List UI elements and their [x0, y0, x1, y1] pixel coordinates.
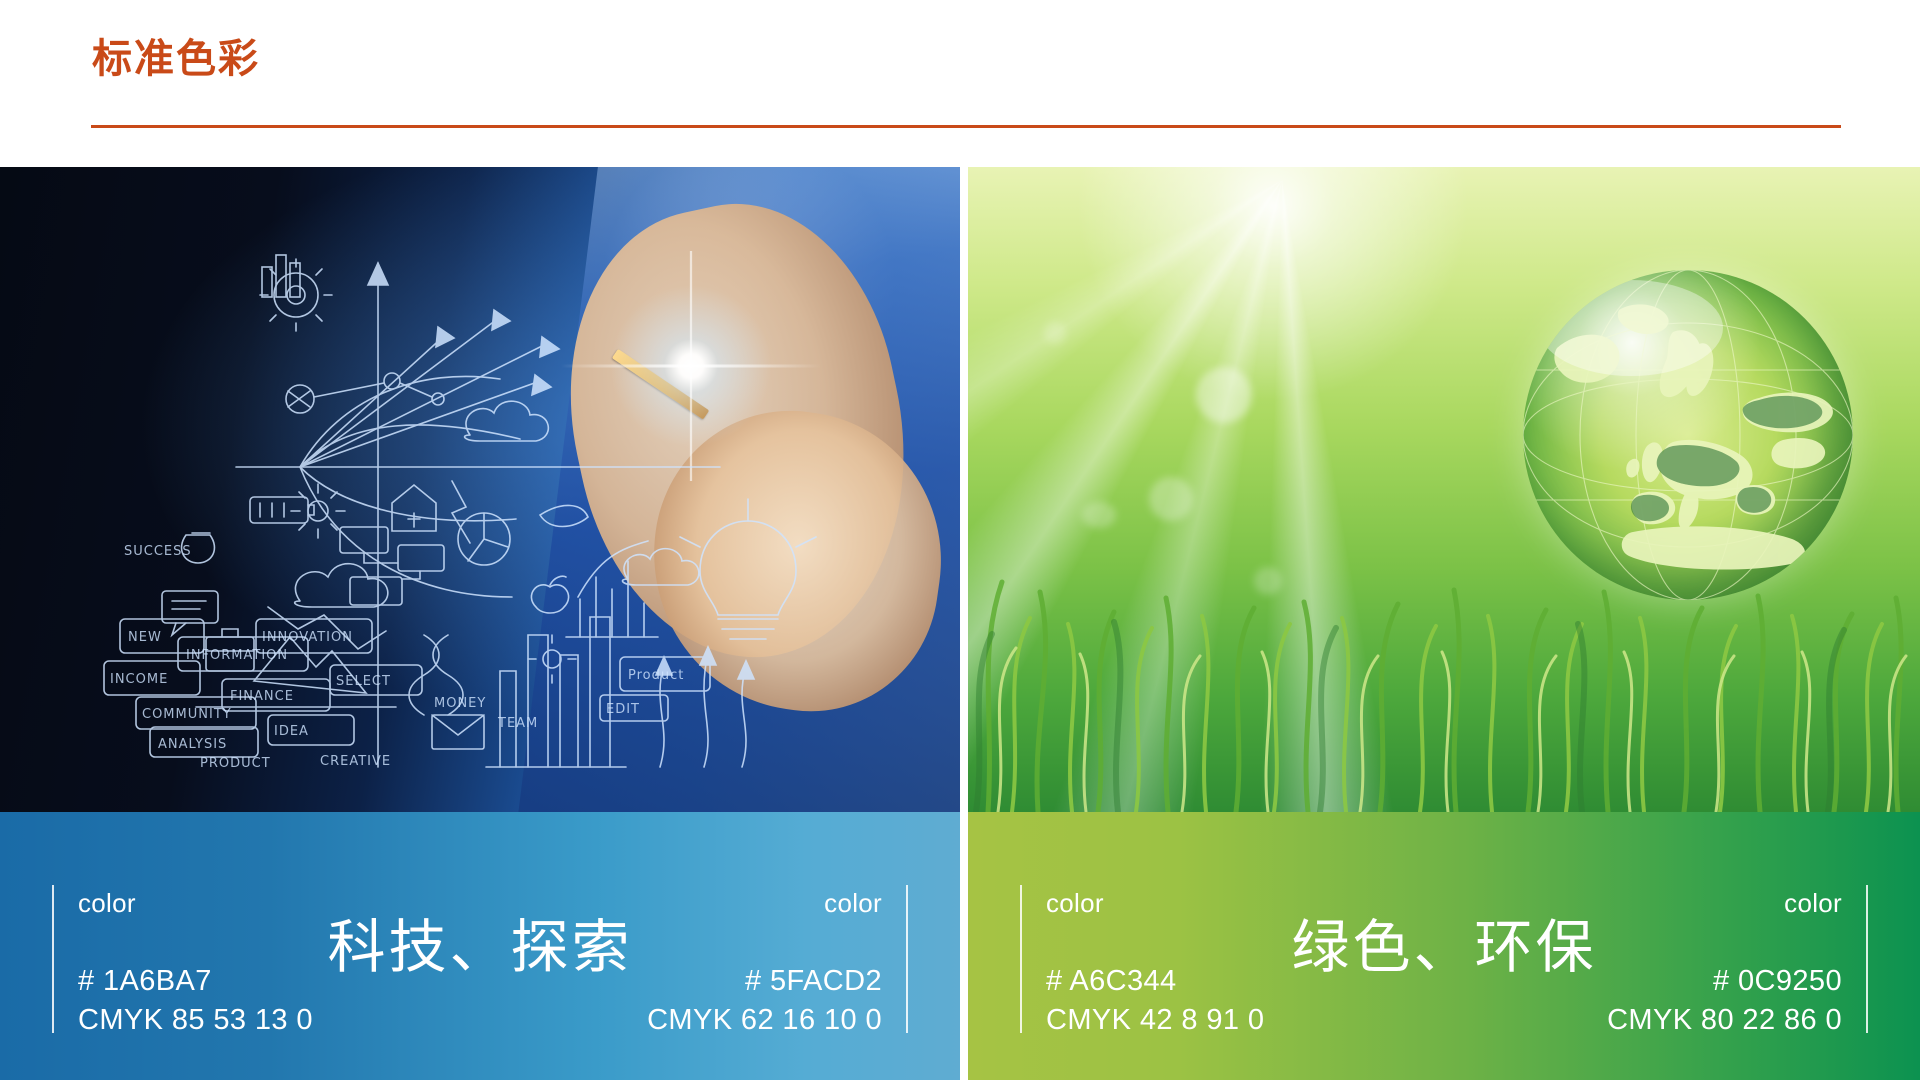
svg-text:EDIT: EDIT: [606, 702, 640, 717]
svg-text:PRODUCT: PRODUCT: [200, 756, 271, 771]
slide-header: 标准色彩: [0, 0, 1920, 167]
photo-technology: NEW INCOME INFORMATION COMMUNITY FINANCE…: [0, 167, 960, 812]
swatch-cmyk-value: CMYK 80 22 86 0: [1607, 1003, 1842, 1038]
swatch-cmyk-value: CMYK 62 16 10 0: [647, 1003, 882, 1038]
photo-chalk-doodles: NEW INCOME INFORMATION COMMUNITY FINANCE…: [0, 167, 960, 812]
panel-eco: color # A6C344 CMYK 42 8 91 0 绿色、环保 colo…: [968, 167, 1920, 1080]
color-panels: NEW INCOME INFORMATION COMMUNITY FINANCE…: [0, 167, 1920, 1080]
svg-text:ANALYSIS: ANALYSIS: [158, 737, 227, 752]
svg-text:CREATIVE: CREATIVE: [320, 754, 391, 769]
svg-text:INCOME: INCOME: [110, 672, 168, 687]
svg-text:IDEA: IDEA: [274, 724, 309, 739]
photo-bokeh-5: [1044, 322, 1066, 344]
svg-text:COMMUNITY: COMMUNITY: [142, 707, 232, 722]
svg-text:NEW: NEW: [128, 630, 162, 645]
swatch-label: color: [1607, 888, 1842, 920]
color-band-tech: color # 1A6BA7 CMYK 85 53 13 0 科技、探索 col…: [0, 812, 960, 1080]
svg-text:SELECT: SELECT: [336, 674, 391, 689]
svg-text:MONEY: MONEY: [434, 696, 486, 711]
slide-root: 标准色彩: [0, 0, 1920, 1080]
svg-text:SUCCESS: SUCCESS: [124, 544, 192, 559]
svg-text:TEAM: TEAM: [497, 716, 538, 731]
svg-text:FINANCE: FINANCE: [230, 689, 294, 704]
page-title: 标准色彩: [92, 36, 260, 82]
swatch-hex-value: # 5FACD2: [647, 964, 882, 999]
swatch-eco-secondary: color # 0C9250 CMYK 80 22 86 0: [1607, 888, 1842, 1038]
swatch-hex-value: # 0C9250: [1607, 964, 1842, 999]
panel-tech: NEW INCOME INFORMATION COMMUNITY FINANCE…: [0, 167, 960, 1080]
photo-grass-foreground: [968, 412, 1920, 812]
swatch-tech-secondary: color # 5FACD2 CMYK 62 16 10 0: [647, 888, 882, 1038]
svg-text:INFORMATION: INFORMATION: [186, 648, 288, 663]
swatch-label: color: [647, 888, 882, 920]
svg-text:Product: Product: [628, 668, 684, 683]
band-right-divider: [906, 885, 908, 1033]
svg-text:INNOVATION: INNOVATION: [262, 630, 353, 645]
photo-nature: [968, 167, 1920, 812]
swatch-cmyk-value: CMYK 85 53 13 0: [78, 1003, 313, 1038]
band-right-divider: [1866, 885, 1868, 1033]
swatch-cmyk-value: CMYK 42 8 91 0: [1046, 1003, 1264, 1038]
color-band-eco: color # A6C344 CMYK 42 8 91 0 绿色、环保 colo…: [968, 812, 1920, 1080]
title-underline-rule: [91, 125, 1841, 128]
